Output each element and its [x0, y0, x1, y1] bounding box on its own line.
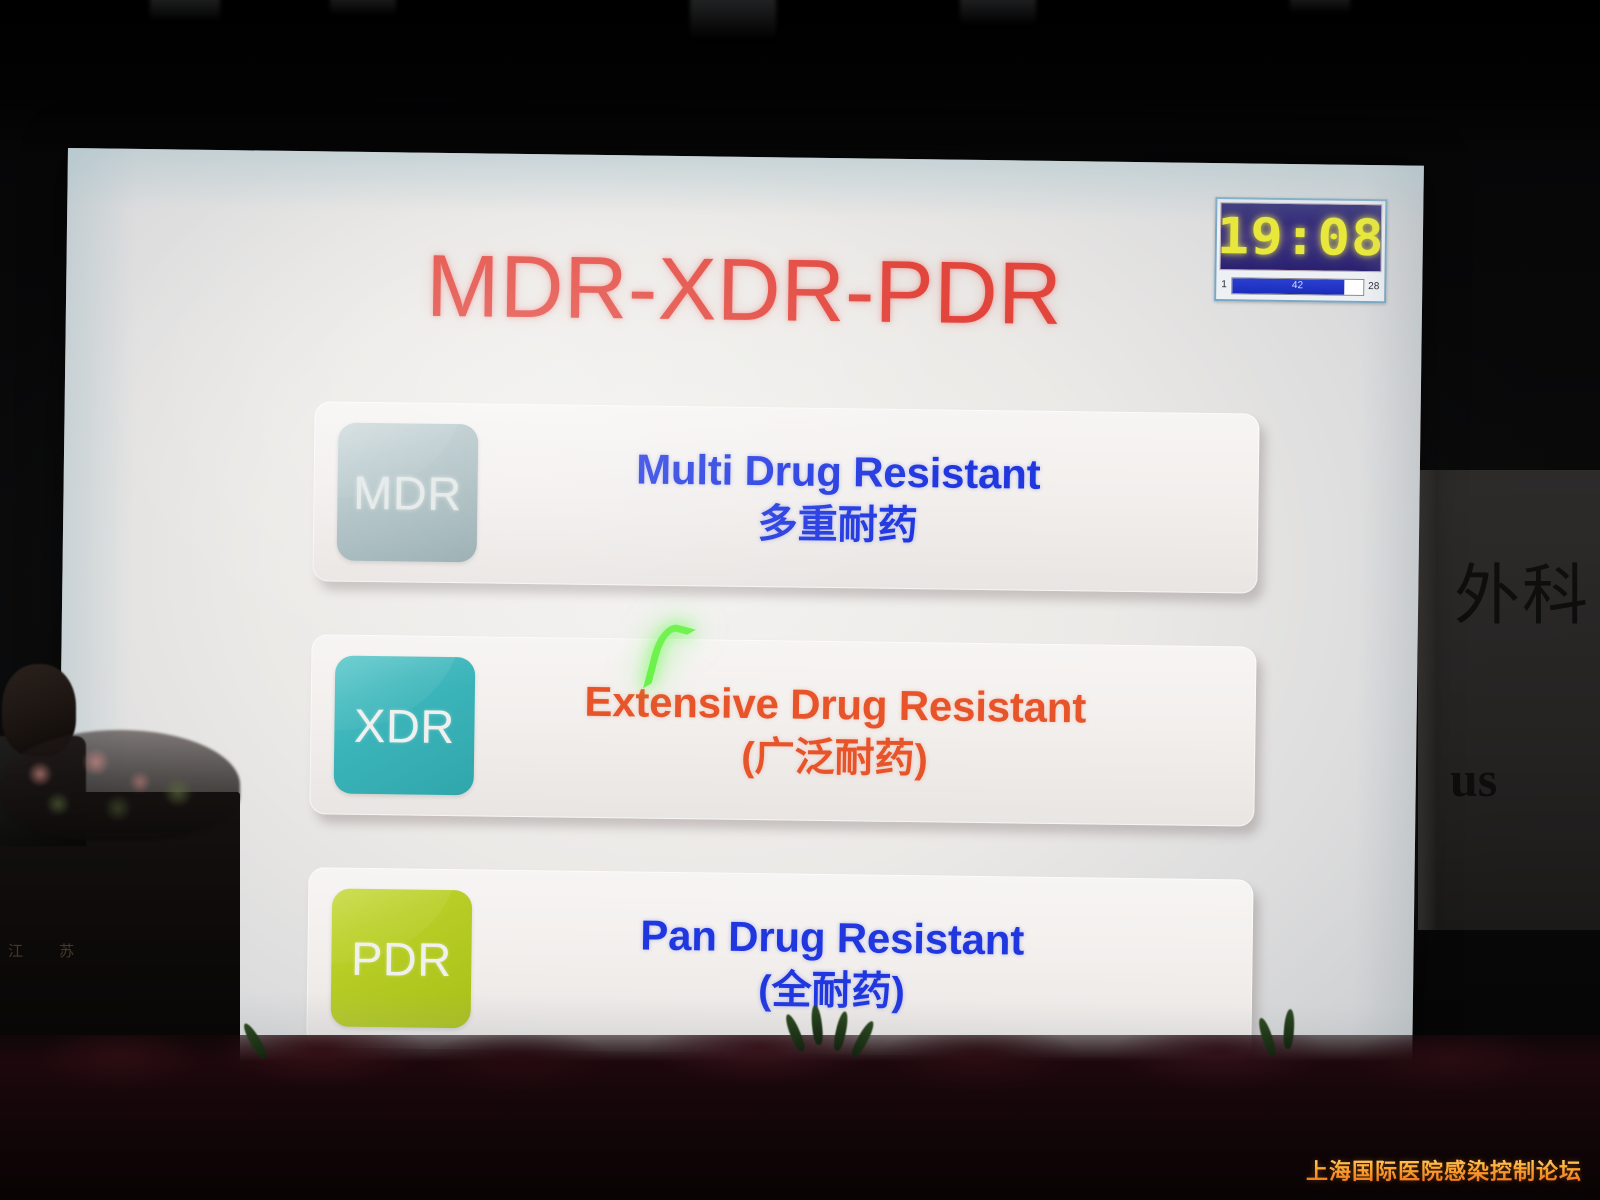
definition-row-mdr: MDR Multi Drug Resistant 多重耐药	[312, 401, 1259, 593]
definition-row-pdr: PDR Pan Drug Resistant (全耐药)	[306, 867, 1253, 1059]
definition-chinese-xdr: (广泛耐药)	[474, 731, 1196, 788]
side-banner: 外科 us	[1415, 470, 1600, 930]
definition-english-pdr: Pan Drug Resistant	[471, 908, 1193, 967]
ceiling-fixture	[960, 0, 1036, 24]
presentation-timer-widget[interactable]: 19:08 1 42 28	[1214, 197, 1387, 303]
timer-progress-row: 1 42 28	[1219, 272, 1381, 300]
badge-xdr-label: XDR	[354, 697, 455, 753]
definition-chinese-pdr: (全耐药)	[471, 964, 1193, 1021]
definition-text-mdr: Multi Drug Resistant 多重耐药	[477, 442, 1259, 555]
ceiling-fixture	[150, 0, 220, 20]
definition-text-xdr: Extensive Drug Resistant (广泛耐药)	[474, 675, 1256, 788]
timer-display: 19:08	[1220, 202, 1383, 272]
banner-edge	[1416, 470, 1438, 930]
dark-ceiling	[0, 0, 1600, 150]
definition-row-xdr: XDR Extensive Drug Resistant (广泛耐药)	[309, 634, 1256, 826]
photo-of-conference-room: 外科 us MDR-XDR-PDR 19:08 1 42 28	[0, 0, 1600, 1200]
definition-chinese-mdr: 多重耐药	[477, 498, 1199, 555]
definition-panel-list: MDR Multi Drug Resistant 多重耐药 XDR Extens…	[306, 401, 1259, 1059]
definition-text-pdr: Pan Drug Resistant (全耐药)	[471, 908, 1253, 1021]
badge-pdr: PDR	[331, 889, 473, 1029]
badge-mdr: MDR	[337, 423, 479, 563]
ceiling-fixture	[1290, 0, 1350, 12]
badge-pdr-label: PDR	[351, 930, 452, 986]
forum-watermark: 上海国际医院感染控制论坛	[1306, 1154, 1582, 1186]
timer-progress-value: 42	[1232, 278, 1363, 295]
banner-english-text: us	[1450, 750, 1497, 808]
timer-digits: 19:08	[1220, 207, 1383, 267]
badge-xdr: XDR	[334, 656, 476, 796]
timer-min-label: 1	[1221, 280, 1227, 290]
banner-chinese-text: 外科	[1454, 542, 1590, 638]
projection-screen: MDR-XDR-PDR 19:08 1 42 28 MDR	[56, 148, 1424, 1096]
timer-max-label: 28	[1368, 282, 1379, 292]
definition-english-xdr: Extensive Drug Resistant	[474, 675, 1196, 734]
podium-plaque-text: 江 苏	[8, 940, 90, 961]
ceiling-fixture	[330, 0, 396, 14]
ceiling-fixture	[690, 0, 776, 38]
timer-progress-bar[interactable]: 42	[1231, 277, 1365, 296]
badge-mdr-label: MDR	[353, 464, 462, 520]
definition-english-mdr: Multi Drug Resistant	[478, 442, 1200, 501]
podium-flower-arrangement	[0, 730, 240, 840]
